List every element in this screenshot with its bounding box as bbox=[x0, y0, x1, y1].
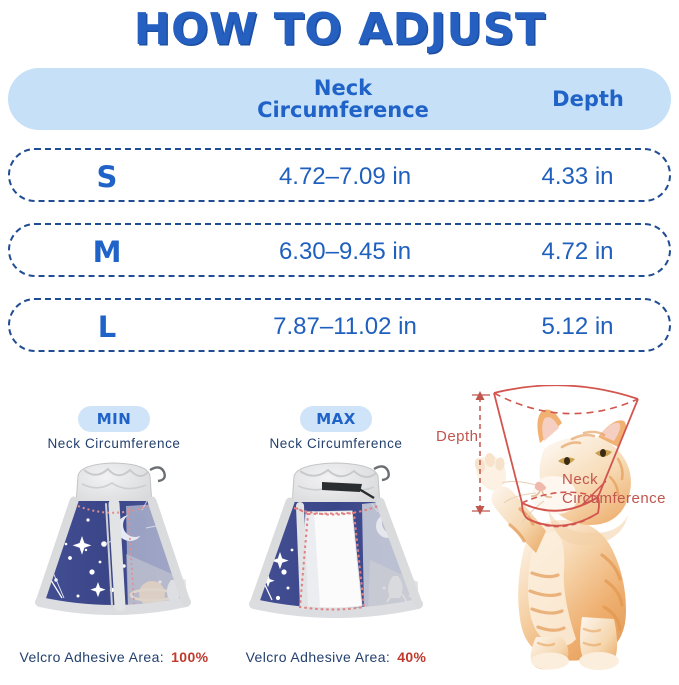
row-depth-value: 4.33 in bbox=[490, 150, 665, 204]
neck-annotation-line1: Neck bbox=[562, 470, 666, 489]
row-depth-value: 4.72 in bbox=[490, 225, 665, 279]
max-velcro-value: 40% bbox=[397, 649, 426, 665]
cone-image-max bbox=[222, 454, 450, 630]
header-neck-line1: Neck bbox=[158, 77, 528, 99]
table-row: L 7.87–11.02 in 5.12 in bbox=[8, 298, 671, 352]
row-neck-value: 4.72–7.09 in bbox=[180, 150, 510, 204]
page-title: HOW TO ADJUST bbox=[0, 2, 679, 58]
min-badge: MIN bbox=[78, 406, 150, 432]
min-sublabel: Neck Circumference bbox=[0, 436, 228, 451]
table-header-bar: Neck Circumference Depth bbox=[8, 68, 671, 130]
row-size-label: S bbox=[62, 150, 152, 204]
row-size-label: M bbox=[62, 225, 152, 279]
row-depth-value: 5.12 in bbox=[490, 300, 665, 354]
panel-max: MAX Neck Circumference bbox=[222, 398, 450, 685]
min-velcro-value: 100% bbox=[171, 649, 208, 665]
max-badge: MAX bbox=[300, 406, 372, 432]
neck-circumference-annotation-label: Neck Circumference bbox=[562, 470, 666, 508]
max-velcro-label: Velcro Adhesive Area: bbox=[246, 649, 391, 665]
cat-measurement-diagram: Depth Neck Circumference bbox=[432, 385, 679, 685]
min-velcro-caption: Velcro Adhesive Area:100% bbox=[0, 649, 228, 665]
panel-min: MIN Neck Circumference bbox=[0, 398, 228, 685]
min-velcro-label: Velcro Adhesive Area: bbox=[19, 649, 164, 665]
row-neck-value: 7.87–11.02 in bbox=[180, 300, 510, 354]
row-size-label: L bbox=[62, 300, 152, 354]
max-velcro-caption: Velcro Adhesive Area:40% bbox=[222, 649, 450, 665]
cone-image-min bbox=[0, 454, 228, 630]
infographic-page: HOW TO ADJUST Neck Circumference Depth S… bbox=[0, 0, 679, 685]
header-neck-circumference: Neck Circumference bbox=[158, 77, 528, 121]
row-neck-value: 6.30–9.45 in bbox=[180, 225, 510, 279]
table-row: S 4.72–7.09 in 4.33 in bbox=[8, 148, 671, 202]
header-neck-line2: Circumference bbox=[158, 99, 528, 121]
table-row: M 6.30–9.45 in 4.72 in bbox=[8, 223, 671, 277]
header-depth: Depth bbox=[498, 88, 678, 110]
depth-annotation-label: Depth bbox=[436, 427, 479, 446]
neck-annotation-line2: Circumference bbox=[562, 489, 666, 508]
max-sublabel: Neck Circumference bbox=[222, 436, 450, 451]
